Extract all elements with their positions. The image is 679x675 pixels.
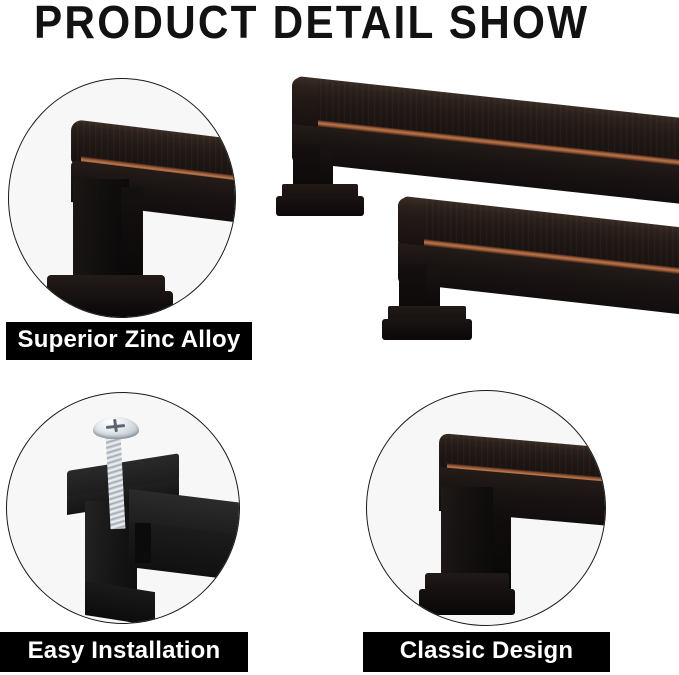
panel-easy-installation: [6, 392, 240, 624]
page-title: PRODUCT DETAIL SHOW: [34, 0, 589, 46]
label-easy-installation: Easy Installation: [0, 632, 248, 672]
base-lower-step: [276, 196, 364, 216]
label-superior-zinc-alloy: Superior Zinc Alloy: [6, 322, 252, 360]
classic-base-bottom: [419, 589, 515, 615]
pull-base-upper: [276, 184, 364, 218]
label-text: Easy Installation: [28, 637, 221, 665]
install-post-bottom: [85, 581, 155, 624]
label-text: Classic Design: [400, 637, 574, 665]
panel-superior-zinc-alloy: [8, 78, 236, 318]
base-lower-step: [382, 319, 472, 340]
closeup-base-bottom: [39, 291, 173, 317]
pull-base-lower: [382, 306, 472, 342]
panel-product-pulls: [262, 72, 679, 362]
install-notch: [135, 523, 151, 563]
panel-classic-design: [366, 390, 606, 626]
label-text: Superior Zinc Alloy: [18, 326, 241, 354]
label-classic-design: Classic Design: [363, 632, 610, 672]
pull-end-cap-lower: [398, 197, 424, 250]
